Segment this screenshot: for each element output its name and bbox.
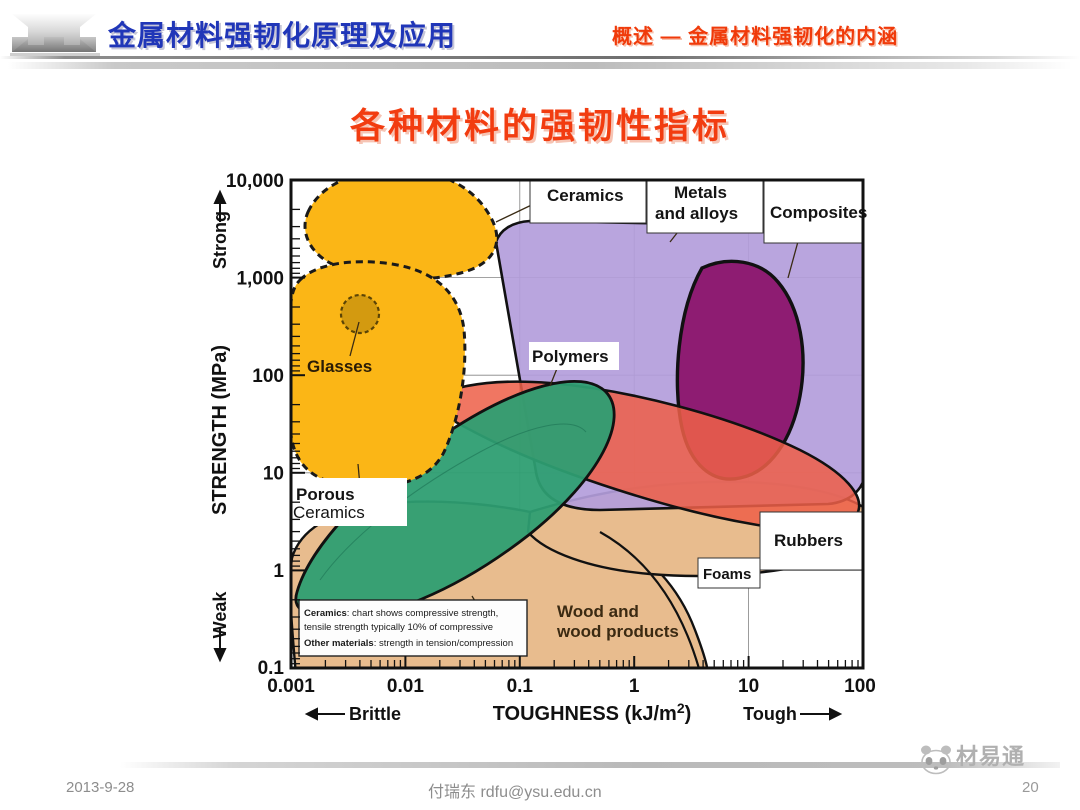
brittle-arrow-icon bbox=[307, 709, 345, 719]
x-tick-1: 1 bbox=[629, 676, 640, 697]
note-line1-rest: : chart shows compressive strength, bbox=[347, 608, 499, 619]
x-axis-title-sup: 2 bbox=[677, 700, 685, 716]
y-tick-1: 1 bbox=[273, 561, 284, 582]
x-axis-title-main: TOUGHNESS (kJ/m bbox=[493, 703, 677, 725]
header-divider-secondary bbox=[8, 62, 1072, 69]
label-composites: Composites bbox=[770, 203, 867, 222]
note-line2: tensile strength typically 10% of compre… bbox=[304, 622, 493, 633]
label-metals-alloys: and alloys bbox=[655, 204, 738, 223]
y-tick-10000: 10,000 bbox=[226, 171, 284, 192]
tough-arrow-icon bbox=[800, 709, 840, 719]
label-porous-ceramics: Ceramics bbox=[293, 503, 365, 522]
x-axis-title: TOUGHNESS (kJ/m2) bbox=[493, 700, 692, 725]
note-line1-bold: Ceramics bbox=[304, 608, 347, 619]
note-line3-rest: : strength in tension/compression bbox=[374, 638, 513, 649]
x-tick-0.1: 0.1 bbox=[507, 676, 534, 697]
slide-header: 金属材料强韧化原理及应用 概述 — 金属材料强韧化的内涵 bbox=[0, 0, 1080, 68]
x-tick-0.001: 0.001 bbox=[267, 676, 315, 697]
label-wood: Wood and bbox=[557, 602, 639, 621]
label-metals: Metals bbox=[674, 183, 727, 202]
label-porous: Porous bbox=[296, 485, 355, 504]
brand-watermark: 材易通 bbox=[918, 740, 1068, 776]
label-ceramics: Ceramics bbox=[547, 186, 624, 205]
brand-name: 材易通 bbox=[956, 739, 1025, 771]
y-axis-title: STRENGTH (MPa) bbox=[209, 345, 231, 515]
svg-text:Other materials: strength in t: Other materials: strength in tension/com… bbox=[304, 638, 513, 649]
label-polymers: Polymers bbox=[532, 347, 609, 366]
x-tick-100: 100 bbox=[844, 676, 876, 697]
label-glasses: Glasses bbox=[307, 357, 372, 376]
x-axis-title-tail: ) bbox=[685, 703, 692, 725]
x-axis-tough-label: Tough bbox=[743, 704, 797, 724]
x-tick-10: 10 bbox=[738, 676, 759, 697]
footer-date: 2013-9-28 bbox=[66, 779, 134, 796]
header-title: 金属材料强韧化原理及应用 bbox=[108, 14, 456, 54]
material-property-chart: Ceramics Metals and alloys Composites Po… bbox=[200, 160, 900, 730]
metal-logo bbox=[8, 10, 100, 56]
x-tick-0.01: 0.01 bbox=[387, 676, 424, 697]
header-divider bbox=[0, 56, 1080, 59]
region-glasses bbox=[341, 295, 379, 333]
footer-author: 付瑞东 rdfu@ysu.edu.cn bbox=[428, 778, 602, 802]
label-wood-products: wood products bbox=[556, 622, 679, 641]
svg-text:Ceramics: chart shows compress: Ceramics: chart shows compressive streng… bbox=[304, 608, 498, 619]
header-subtitle: 概述 — 金属材料强韧化的内涵 bbox=[612, 20, 898, 49]
label-rubbers: Rubbers bbox=[774, 531, 843, 550]
y-tick-10: 10 bbox=[263, 464, 284, 485]
note-box: Ceramics: chart shows compressive streng… bbox=[299, 600, 527, 656]
y-tick-100: 100 bbox=[252, 366, 284, 387]
label-foams: Foams bbox=[703, 566, 751, 583]
x-axis-brittle-label: Brittle bbox=[349, 704, 401, 724]
note-line3-bold: Other materials bbox=[304, 638, 374, 649]
page-title: 各种材料的强韧性指标 bbox=[0, 98, 1080, 149]
page-number: 20 bbox=[1022, 779, 1039, 796]
panda-face-icon bbox=[918, 742, 954, 776]
y-tick-1000: 1,000 bbox=[236, 269, 284, 290]
